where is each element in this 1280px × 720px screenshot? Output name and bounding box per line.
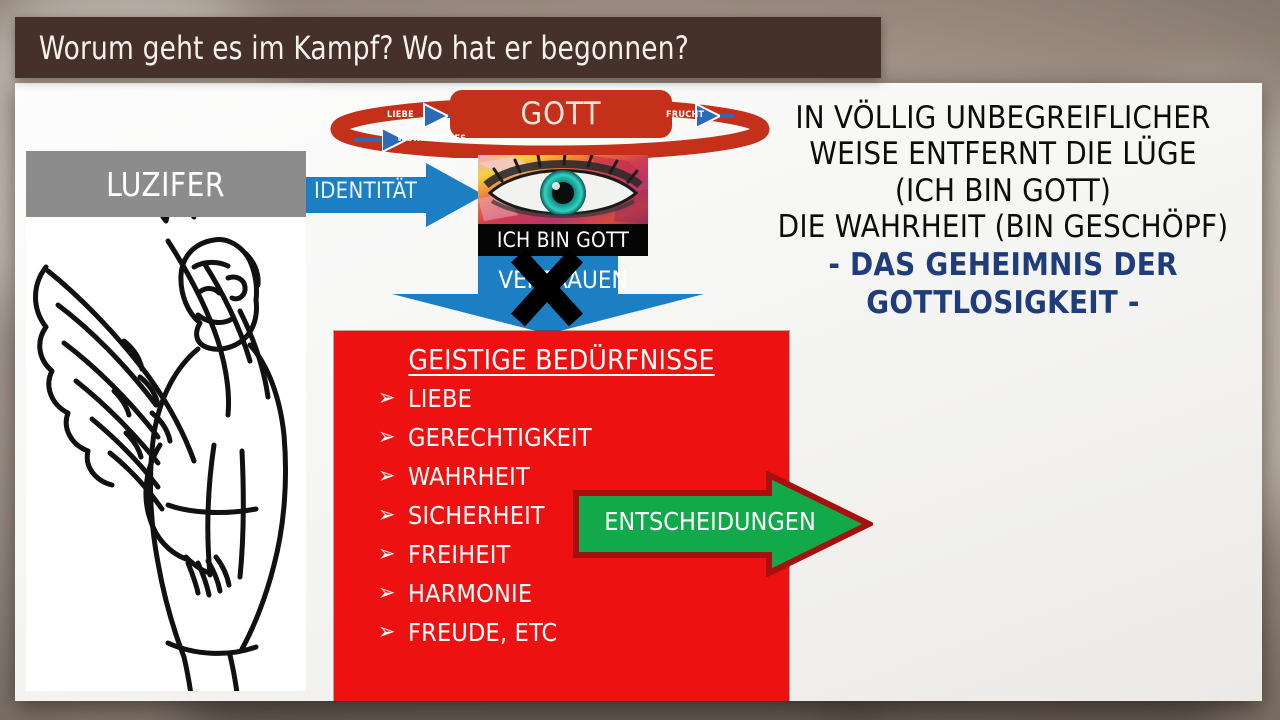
explanation-highlight-line: - DAS GEHEIMNIS DER [752, 247, 1254, 283]
list-item: ➢FREUDE, ETC [378, 620, 789, 645]
page-title: Worum geht es im Kampf? Wo hat er begonn… [15, 29, 689, 67]
slide-stage: Worum geht es im Kampf? Wo hat er begonn… [0, 0, 1280, 720]
explanation-line: WEISE ENTFERNT DIE LÜGE [752, 136, 1254, 172]
explanation-highlight-line: GOTTLOSIGKEIT - [752, 285, 1254, 321]
bullet-arrow-icon: ➢ [378, 504, 408, 527]
x-mark-overlay [505, 246, 589, 330]
bullet-arrow-icon: ➢ [378, 465, 408, 488]
list-item: ➢GERECHTIGKEIT [378, 425, 789, 450]
ring-label-wort-gottes: WORT GOTTES [397, 134, 466, 144]
slide-title-bar: Worum geht es im Kampf? Wo hat er begonn… [15, 17, 881, 78]
explanation-text-block: IN VÖLLIG UNBEGREIFLICHER WEISE ENTFERNT… [752, 100, 1254, 322]
spiritual-needs-title: GEISTIGE BEDÜRFNISSE [334, 343, 789, 376]
decisions-arrow: ENTSCHEIDUNGEN [573, 471, 873, 577]
list-item-label: FREIHEIT [408, 542, 511, 567]
lucifer-angel-illustration [26, 151, 306, 691]
bullet-arrow-icon: ➢ [378, 621, 408, 644]
list-item-label: WAHRHEIT [408, 464, 530, 489]
bullet-arrow-icon: ➢ [378, 543, 408, 566]
decisions-arrow-label: ENTSCHEIDUNGEN [595, 507, 825, 536]
list-item-label: SICHERHEIT [408, 503, 545, 528]
list-item-label: LIEBE [408, 386, 472, 411]
angel-drawing-icon [26, 151, 306, 691]
lucifer-label-banner: LUZIFER [26, 151, 306, 217]
list-item: ➢HARMONIE [378, 581, 789, 606]
list-item: ➢LIEBE [378, 386, 789, 411]
bullet-arrow-icon: ➢ [378, 387, 408, 410]
x-mark-icon [505, 246, 589, 330]
god-node-box: GOTT [450, 90, 672, 138]
explanation-line: (ICH BIN GOTT) [752, 173, 1254, 209]
god-node-label: GOTT [520, 96, 601, 132]
bullet-arrow-icon: ➢ [378, 582, 408, 605]
identity-arrow-label: IDENTITÄT [314, 179, 417, 204]
god-orbit-ring: LIEBE WORT GOTTES FRUCHT GOTT [330, 96, 770, 158]
bullet-arrow-icon: ➢ [378, 426, 408, 449]
lucifer-label: LUZIFER [107, 165, 226, 204]
eye-icon [478, 155, 648, 225]
list-item-label: HARMONIE [408, 581, 532, 606]
explanation-line: DIE WAHRHEIT (BIN GESCHÖPF) [752, 209, 1254, 245]
colorful-eye-image [478, 155, 648, 225]
identity-arrow: IDENTITÄT [298, 163, 484, 227]
ring-label-liebe: LIEBE [387, 110, 414, 120]
list-item-label: FREUDE, ETC [408, 620, 557, 645]
explanation-line: IN VÖLLIG UNBEGREIFLICHER [752, 100, 1254, 136]
list-item-label: GERECHTIGKEIT [408, 425, 592, 450]
ring-label-frucht: FRUCHT [666, 110, 704, 120]
